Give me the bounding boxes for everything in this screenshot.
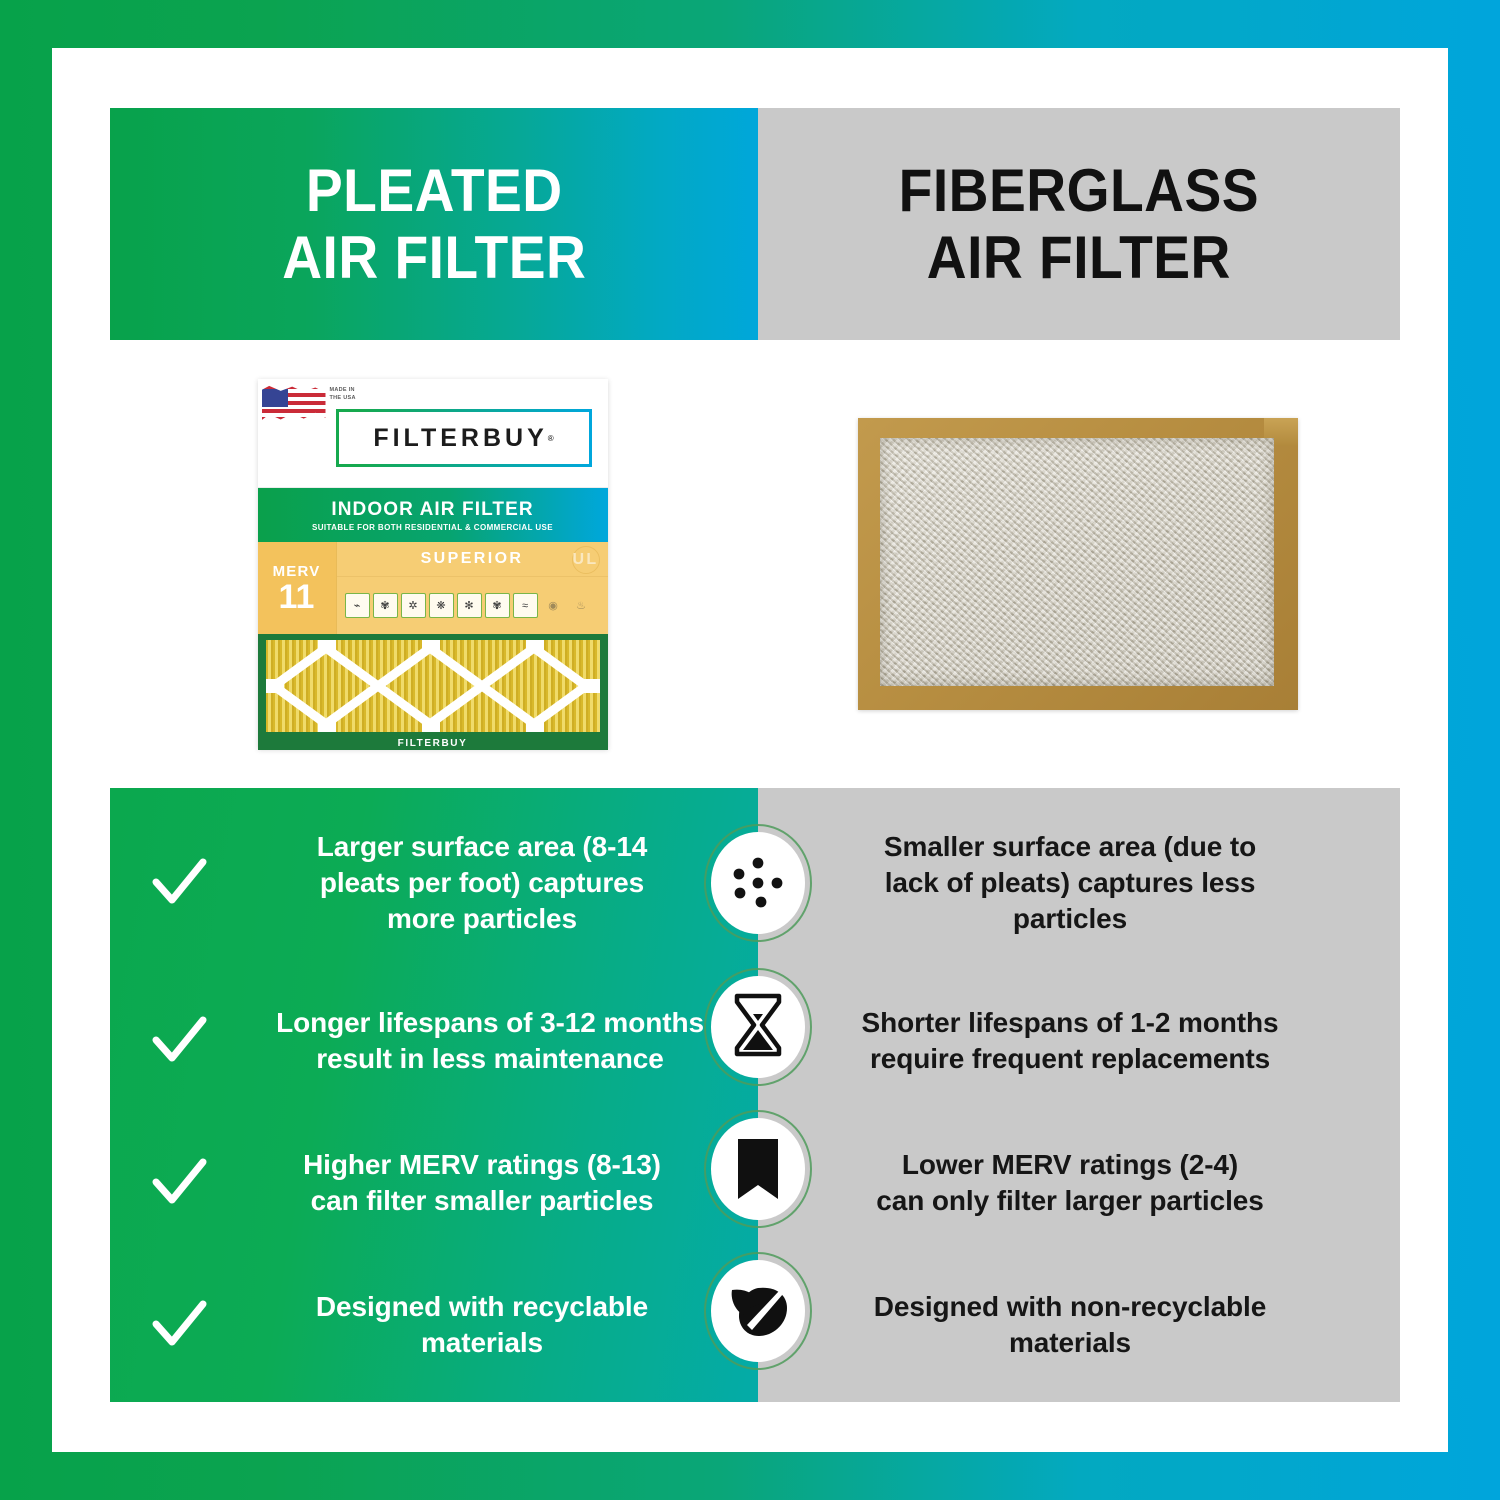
allergen-icon: ✻ — [457, 593, 482, 618]
virus-icon-dim: ◉ — [541, 593, 566, 618]
fiberglass-filter-image — [858, 418, 1298, 710]
row-fiberglass-2: Shorter lifespans of 1-2 months require … — [758, 966, 1400, 1116]
badge-leaf — [704, 1252, 812, 1370]
fiberglass-media-texture — [880, 438, 1274, 686]
registered-mark-icon: ® — [548, 434, 554, 443]
box-footer-brand: FILTERBUY — [258, 738, 608, 749]
leaf-icon — [725, 1280, 791, 1342]
grade-block: SUPERIOR UL ⌁ ✾ ✲ ❋ ✻ ✾ ≈ — [337, 542, 608, 634]
pet-dander-icon: ✾ — [485, 593, 510, 618]
row-fiberglass-4: Designed with non-recyclable materials — [758, 1250, 1400, 1400]
filterbuy-logo: FILTERBUY ® — [336, 409, 592, 467]
row-pleated-3-text: Higher MERV ratings (8-13) can filter sm… — [222, 1147, 742, 1219]
indoor-air-filter-label: INDOOR AIR FILTER — [331, 499, 533, 521]
row-fiberglass-1: Smaller surface area (due to lack of ple… — [758, 806, 1400, 960]
grade-row: SUPERIOR UL — [337, 542, 608, 577]
header-fiberglass: FIBERGLASS AIR FILTER — [758, 108, 1400, 340]
hourglass-icon — [731, 992, 785, 1062]
feature-icon-strip: ⌁ ✾ ✲ ❋ ✻ ✾ ≈ ◉ ♨ — [337, 577, 608, 634]
product-image-band: MADE IN THE USA FILTERBUY ® INDOOR AIR F… — [110, 340, 1400, 788]
merv-label: MERV — [273, 563, 321, 580]
made-in-usa-label: MADE IN THE USA — [330, 387, 356, 403]
checkmark-icon — [148, 1152, 210, 1214]
mold-icon: ❋ — [429, 593, 454, 618]
merv-value: 11 — [279, 580, 315, 614]
comparison-rows: Larger surface area (8-14 pleats per foo… — [110, 788, 1400, 1402]
pleat-texture — [266, 640, 600, 732]
grade-label: SUPERIOR — [421, 550, 524, 568]
row-pleated-1-text: Larger surface area (8-14 pleats per foo… — [222, 829, 742, 936]
suitable-use-label: SUITABLE FOR BOTH RESIDENTIAL & COMMERCI… — [312, 523, 553, 532]
pleated-product-cell: MADE IN THE USA FILTERBUY ® INDOOR AIR F… — [110, 340, 755, 788]
row-pleated-1: Larger surface area (8-14 pleats per foo… — [110, 806, 758, 960]
infographic-page: PLEATED AIR FILTER FIBERGLASS AIR FILTER… — [0, 0, 1500, 1500]
row-pleated-2: Longer lifespans of 3-12 months result i… — [110, 966, 758, 1116]
merv-block: MERV 11 — [258, 542, 337, 634]
diamond-support-grid — [266, 640, 600, 732]
particles-icon — [725, 850, 791, 916]
pollen-icon: ✾ — [373, 593, 398, 618]
filterbuy-box-image: MADE IN THE USA FILTERBUY ® INDOOR AIR F… — [258, 379, 608, 749]
header-fiberglass-title: FIBERGLASS AIR FILTER — [899, 157, 1259, 291]
header-pleated-title: PLEATED AIR FILTER — [282, 157, 586, 291]
box-merv-band: MERV 11 SUPERIOR UL ⌁ ✾ ✲ — [258, 542, 608, 634]
row-fiberglass-1-text: Smaller surface area (due to lack of ple… — [820, 829, 1320, 936]
row-pleated-3: Higher MERV ratings (8-13) can filter sm… — [110, 1108, 758, 1258]
ul-certification-icon: UL — [572, 546, 600, 574]
row-pleated-4-text: Designed with recyclable materials — [222, 1289, 742, 1361]
filterbuy-wordmark: FILTERBUY — [373, 424, 547, 453]
row-fiberglass-3: Lower MERV ratings (2-4) can only filter… — [758, 1108, 1400, 1258]
checkmark-icon — [148, 1294, 210, 1356]
odor-icon-dim: ♨ — [569, 593, 594, 618]
badge-bookmark — [704, 1110, 812, 1228]
checkmark-icon — [148, 852, 210, 914]
row-fiberglass-3-text: Lower MERV ratings (2-4) can only filter… — [820, 1147, 1320, 1219]
fiberglass-product-cell — [755, 340, 1400, 788]
dust-icon: ⌁ — [345, 593, 370, 618]
row-pleated-4: Designed with recyclable materials — [110, 1250, 758, 1400]
box-indoor-band: INDOOR AIR FILTER SUITABLE FOR BOTH RESI… — [258, 488, 608, 542]
bacteria-icon: ✲ — [401, 593, 426, 618]
badge-hourglass — [704, 968, 812, 1086]
pleated-media-view: FILTERBUY — [258, 634, 608, 750]
pleated-column: Larger surface area (8-14 pleats per foo… — [110, 788, 758, 1402]
bookmark-icon — [732, 1136, 784, 1202]
badge-particles — [704, 824, 812, 942]
usa-flag-icon — [262, 385, 326, 427]
header-pleated: PLEATED AIR FILTER — [110, 108, 758, 340]
checkmark-icon — [148, 1010, 210, 1072]
row-fiberglass-4-text: Designed with non-recyclable materials — [820, 1289, 1320, 1361]
row-pleated-2-text: Longer lifespans of 3-12 months result i… — [222, 1005, 758, 1077]
box-top-panel: MADE IN THE USA FILTERBUY ® — [258, 379, 608, 488]
comparison-infographic: PLEATED AIR FILTER FIBERGLASS AIR FILTER… — [110, 108, 1400, 1402]
header-row: PLEATED AIR FILTER FIBERGLASS AIR FILTER — [110, 108, 1400, 340]
smoke-icon: ≈ — [513, 593, 538, 618]
fiberglass-column: Smaller surface area (due to lack of ple… — [758, 788, 1400, 1402]
row-fiberglass-2-text: Shorter lifespans of 1-2 months require … — [820, 1005, 1320, 1077]
